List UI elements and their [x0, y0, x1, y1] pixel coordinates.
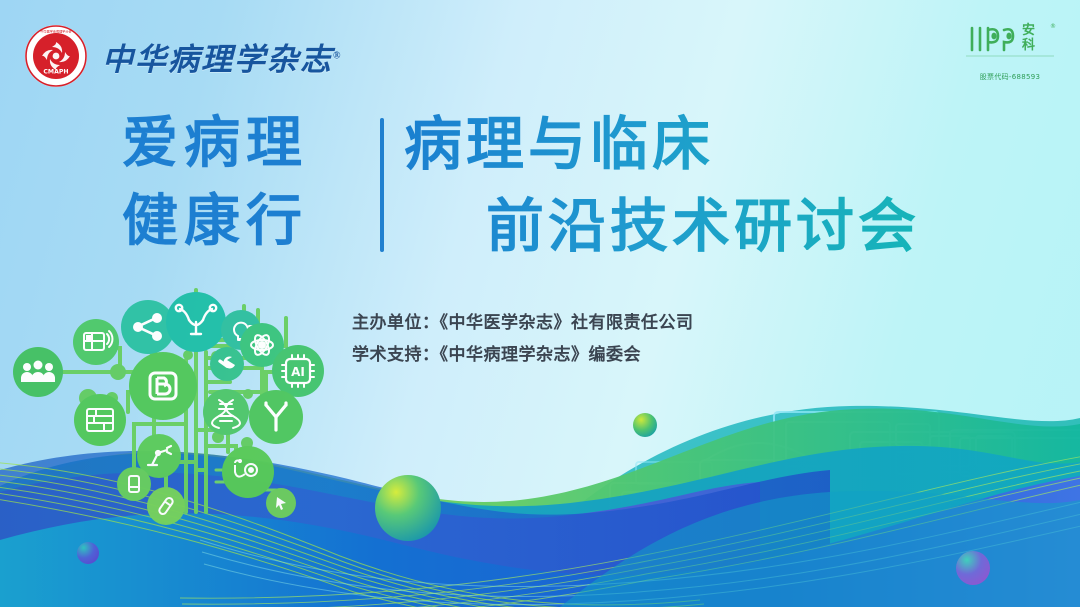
sponsor-registered-mark: ®	[1050, 23, 1056, 30]
tree-node-tube	[147, 487, 185, 525]
background-graphics: AI	[0, 0, 1080, 607]
sphere-green-small	[633, 413, 657, 437]
title-right-line2: 前沿技术研讨会	[404, 186, 920, 268]
organizer-block: 主办单位：《中华医学杂志》社有限责任公司 学术支持：《中华病理学杂志》编委会	[352, 307, 694, 371]
registered-mark: ®	[333, 50, 342, 61]
brand-left: CMAPH 中华医学会病理学分会 中华病理学杂志®	[24, 24, 342, 88]
title-left-line2: 健康行	[122, 182, 308, 260]
tree-node-cursor	[266, 488, 296, 518]
cmaph-seal-logo: CMAPH 中华医学会病理学分会	[24, 24, 88, 88]
tree-node-microscope-slide	[129, 352, 197, 420]
sphere-purple-teal	[956, 551, 990, 585]
svg-text:安: 安	[1022, 22, 1035, 38]
tree-node-ai-chip: AI	[272, 345, 324, 397]
organizer-line-host: 主办单位：《中华医学杂志》社有限责任公司	[352, 307, 694, 339]
tree-node-uterus	[166, 292, 226, 352]
title-block: 爱病理 健康行 病理与临床 前沿技术研讨会	[0, 96, 1080, 266]
sphere-purple-small	[77, 542, 99, 564]
svg-text:AI: AI	[291, 365, 305, 379]
title-left-line1: 爱病理	[122, 104, 308, 182]
seal-text: CMAPH	[43, 69, 68, 76]
title-left: 爱病理 健康行	[122, 104, 308, 260]
title-right-line1: 病理与临床	[404, 104, 920, 186]
svg-text:中华医学会病理学分会: 中华医学会病理学分会	[41, 29, 72, 34]
sponsor-stock-code: 股票代码-688593	[958, 72, 1062, 82]
tree-node-wifi-device	[73, 319, 119, 365]
tree-node-device	[117, 467, 151, 501]
conference-poster: AI	[0, 0, 1080, 607]
organizer-line-support: 学术支持：《中华病理学杂志》编委会	[352, 339, 694, 371]
journal-title-text: 中华病理学杂志	[102, 42, 333, 77]
tree-node-stethoscope	[222, 446, 274, 498]
journal-title: 中华病理学杂志®	[102, 34, 342, 79]
tree-node-antibody	[249, 390, 303, 444]
tree-node-dna	[203, 389, 249, 435]
title-right: 病理与临床 前沿技术研讨会	[404, 104, 920, 268]
sponsor-logo: 安 科 ® 股票代码-688593	[958, 18, 1062, 82]
tree-node-people	[13, 347, 63, 397]
tree-node-cabinet	[74, 394, 126, 446]
sponsor-logo-mark: 安 科 ®	[958, 18, 1062, 64]
sphere-large-green-teal	[375, 475, 441, 541]
svg-text:科: 科	[1022, 37, 1035, 53]
tree-node-wrench	[210, 347, 244, 381]
title-divider	[380, 118, 384, 252]
